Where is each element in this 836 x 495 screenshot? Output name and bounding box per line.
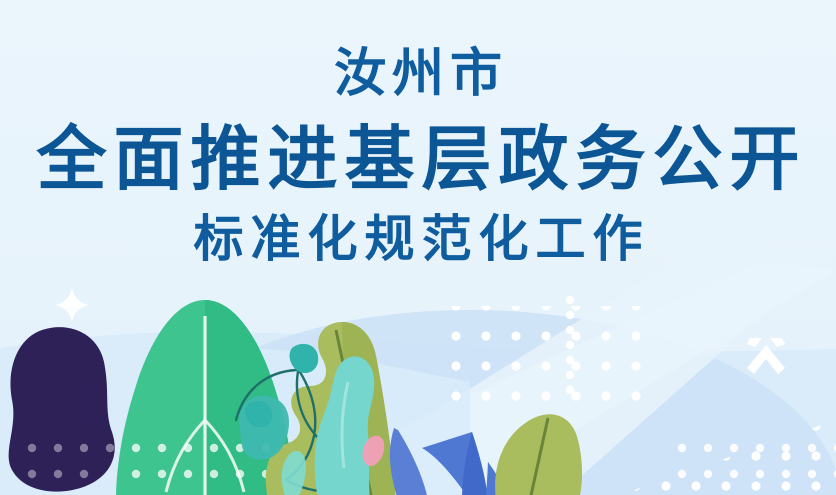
poster-headline: 汝州市 全面推进基层政务公开 标准化规范化工作	[0, 0, 836, 267]
title-line-sub: 标准化规范化工作	[0, 211, 836, 267]
olive-leaf-right	[495, 414, 582, 495]
title-line-main: 全面推进基层政务公开	[0, 121, 836, 197]
purple-blob	[9, 327, 130, 495]
blue-pointed-leaf	[390, 428, 508, 495]
banner-poster: 汝州市 全面推进基层政务公开 标准化规范化工作	[0, 0, 836, 495]
mint-wavy-leaf	[315, 356, 375, 495]
title-line-city: 汝州市	[0, 45, 836, 103]
